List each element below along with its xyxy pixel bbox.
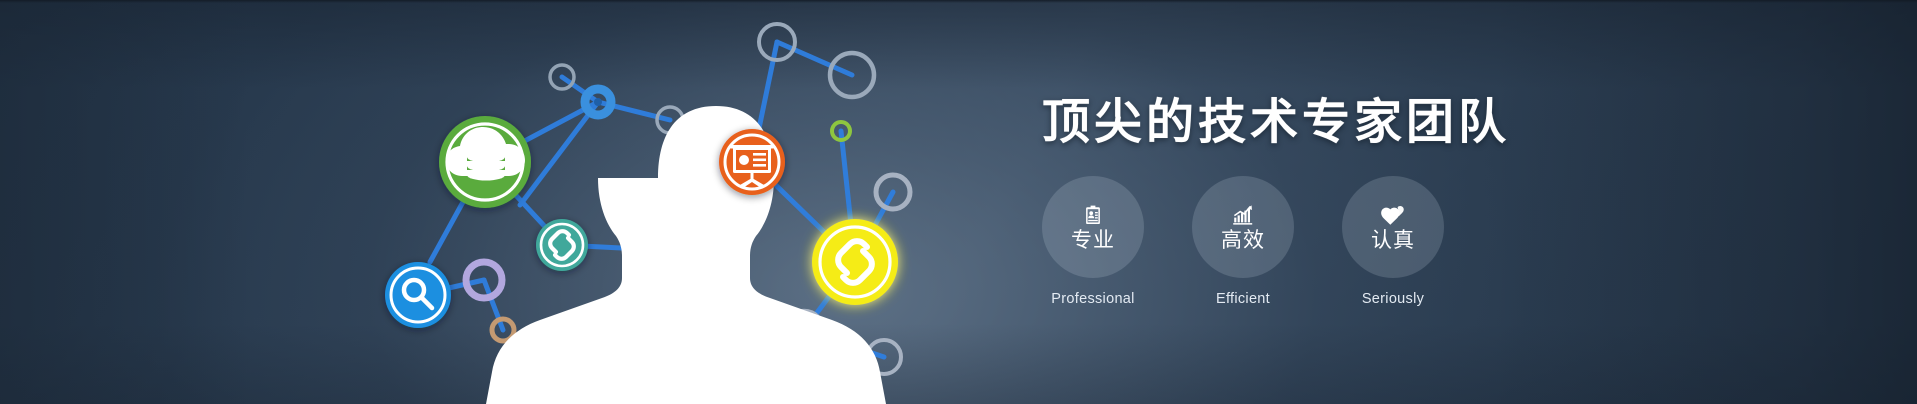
hero-banner: 顶尖的技术专家团队 xyxy=(0,0,1917,404)
page-title: 顶尖的技术专家团队 xyxy=(1042,82,1510,152)
badge-label-cn: 高效 xyxy=(1221,230,1265,252)
badge-label-en: Seriously xyxy=(1362,291,1424,307)
badge-efficient[interactable]: 高效 Efficient xyxy=(1192,176,1294,307)
network-graphic xyxy=(0,0,1180,404)
badge-circle: 高效 xyxy=(1192,176,1294,278)
hero-content: 顶尖的技术专家团队 xyxy=(1030,0,1590,404)
badge-label-en: Efficient xyxy=(1216,291,1270,307)
search-node xyxy=(385,262,451,328)
growth-chart-icon xyxy=(1230,202,1256,228)
cloud-database-node xyxy=(439,116,531,208)
two-hearts-icon xyxy=(1380,202,1406,228)
badge-seriously[interactable]: 认真 Seriously xyxy=(1342,176,1444,307)
badge-label-cn: 认真 xyxy=(1371,230,1415,252)
badge-professional[interactable]: 专业 Professional xyxy=(1042,176,1144,307)
badge-label-cn: 专业 xyxy=(1071,230,1115,252)
link-node-yellow xyxy=(812,219,898,305)
link-node-teal xyxy=(536,219,588,271)
id-card-icon xyxy=(1080,202,1106,228)
badge-label-en: Professional xyxy=(1051,291,1134,307)
badge-circle: 专业 xyxy=(1042,176,1144,278)
badge-list: 专业 Professional xyxy=(1042,176,1444,307)
presentation-node xyxy=(719,129,785,195)
badge-circle: 认真 xyxy=(1342,176,1444,278)
